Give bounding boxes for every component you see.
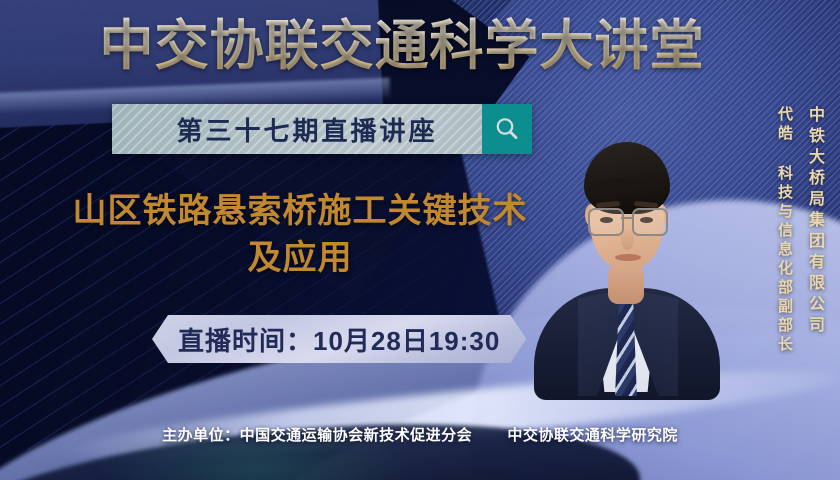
search-icon [493, 115, 521, 143]
lecture-title-line1: 山区铁路悬索桥施工关键技术 [73, 192, 528, 230]
portrait-neck [608, 264, 644, 304]
speaker-portrait [528, 92, 724, 392]
portrait-lens-right [632, 208, 668, 236]
portrait-lens-left [588, 208, 624, 236]
footer-host: 主办单位：中国交通运输协会新技术促进分会 [162, 427, 472, 444]
footer: 主办单位：中国交通运输协会新技术促进分会 中交协联交通科学研究院 [0, 424, 840, 445]
webinar-poster: 中交协联交通科学大讲堂 第三十七期直播讲座 山区铁路悬索桥施工关键技术 及应用 … [0, 0, 840, 480]
lecture-title: 山区铁路悬索桥施工关键技术 及应用 [30, 188, 570, 282]
portrait-hair-fringe [588, 178, 666, 204]
episode-banner: 第三十七期直播讲座 [112, 104, 532, 154]
broadcast-time-badge: 直播时间：10月28日19:30 [152, 315, 526, 363]
portrait-mouth [615, 254, 641, 261]
footer-institute: 中交协联交通科学研究院 [507, 427, 678, 444]
portrait-glasses-bridge [621, 217, 633, 219]
speaker-organization: 中铁大桥局集团有限公司 [806, 106, 822, 337]
speaker-name-and-role: 代皓 科技与信息化部副部长 [777, 106, 792, 355]
search-button[interactable] [482, 104, 532, 154]
speaker-info: 代皓 科技与信息化部副部长 中铁大桥局集团有限公司 [777, 106, 822, 355]
broadcast-time-text: 直播时间：10月28日19:30 [178, 321, 500, 358]
portrait-nose [621, 228, 634, 250]
page-title: 中交协联交通科学大讲堂 [0, 14, 840, 78]
episode-label: 第三十七期直播讲座 [112, 111, 482, 148]
lecture-title-line2: 及应用 [30, 235, 570, 282]
